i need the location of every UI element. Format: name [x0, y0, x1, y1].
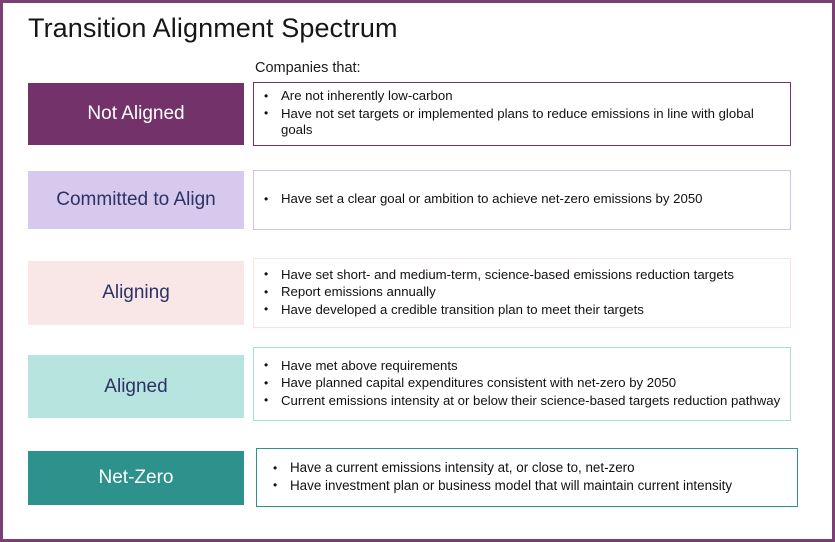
description-box-committed-to-align: Have set a clear goal or ambition to ach… — [253, 170, 791, 230]
criteria-item: Have investment plan or business model t… — [267, 478, 787, 495]
companies-that-caption: Companies that: — [255, 60, 361, 76]
criteria-list: Have set short- and medium-term, science… — [260, 267, 782, 320]
category-label-committed-to-align[interactable]: Committed to Align — [28, 171, 244, 229]
category-label-text: Net-Zero — [99, 467, 174, 489]
criteria-list: Are not inherently low-carbon Have not s… — [260, 88, 782, 140]
category-label-text: Not Aligned — [87, 103, 184, 125]
diagram-frame: Transition Alignment Spectrum Companies … — [0, 0, 835, 542]
category-label-text: Aligned — [104, 376, 167, 398]
criteria-list: Have met above requirements Have planned… — [260, 358, 782, 411]
category-label-aligning[interactable]: Aligning — [28, 261, 244, 325]
criteria-item: Have not set targets or implemented plan… — [260, 106, 782, 139]
description-box-not-aligned: Are not inherently low-carbon Have not s… — [253, 82, 791, 146]
description-box-aligned: Have met above requirements Have planned… — [253, 347, 791, 421]
criteria-item: Have planned capital expenditures consis… — [260, 375, 782, 392]
criteria-item: Have met above requirements — [260, 358, 782, 375]
category-label-text: Aligning — [102, 282, 170, 304]
category-label-net-zero[interactable]: Net-Zero — [28, 451, 244, 505]
category-label-text: Committed to Align — [56, 189, 215, 211]
criteria-item: Have set a clear goal or ambition to ach… — [260, 191, 782, 208]
criteria-item: Have developed a credible transition pla… — [260, 302, 782, 319]
criteria-list: Have set a clear goal or ambition to ach… — [260, 191, 782, 209]
criteria-item: Are not inherently low-carbon — [260, 88, 782, 105]
criteria-item: Have set short- and medium-term, science… — [260, 267, 782, 284]
criteria-item: Current emissions intensity at or below … — [260, 393, 782, 410]
category-label-not-aligned[interactable]: Not Aligned — [28, 83, 244, 145]
description-box-aligning: Have set short- and medium-term, science… — [253, 258, 791, 328]
page-title: Transition Alignment Spectrum — [28, 13, 398, 44]
criteria-list: Have a current emissions intensity at, o… — [267, 460, 787, 495]
criteria-item: Have a current emissions intensity at, o… — [267, 460, 787, 477]
description-box-net-zero: Have a current emissions intensity at, o… — [256, 448, 798, 507]
category-label-aligned[interactable]: Aligned — [28, 355, 244, 418]
criteria-item: Report emissions annually — [260, 284, 782, 301]
